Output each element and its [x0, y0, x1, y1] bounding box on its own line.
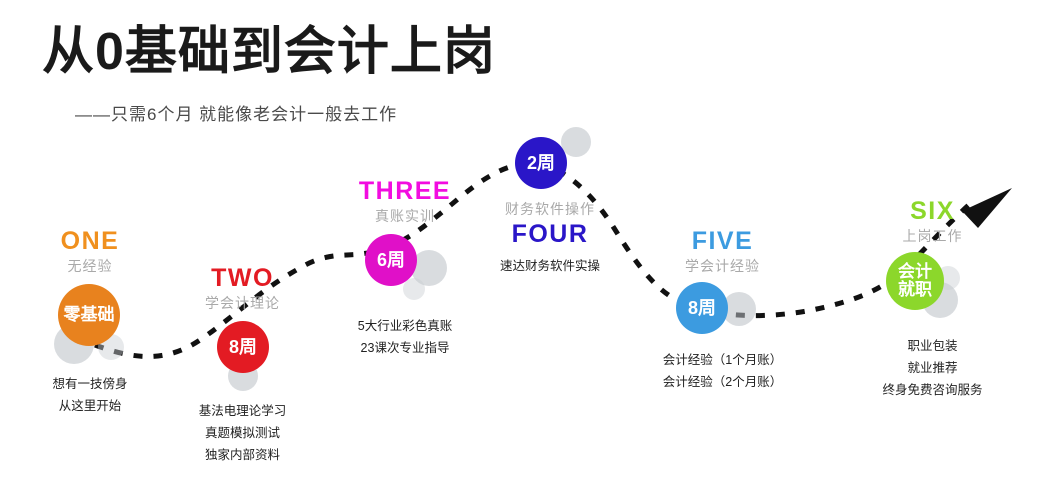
stage-five-circle-group: 8周: [630, 276, 815, 348]
stage-two-note-1: 基法电理论学习: [155, 401, 330, 423]
stage-three-note-1: 5大行业彩色真账: [315, 316, 495, 338]
stage-two-note-2: 真题模拟测试: [155, 423, 330, 445]
stage-six-notes: 职业包装 就业推荐 终身免费咨询服务: [840, 336, 1025, 402]
stage-six-note-2: 就业推荐: [840, 358, 1025, 380]
stage-three-note-2: 23课次专业指导: [315, 338, 495, 360]
stage-five-note-1: 会计经验（1个月账）: [630, 350, 815, 372]
stage-six-sublabel: 上岗工作: [840, 226, 1025, 246]
stage-one-sublabel: 无经验: [6, 256, 174, 276]
infographic-poster: 从0基础到会计上岗 ——只需6个月 就能像老会计一般去工作 ONE 无经验 零基…: [0, 0, 1037, 480]
stage-five-note-2: 会计经验（2个月账）: [630, 372, 815, 394]
stage-six[interactable]: SIX 上岗工作 会计 就职 职业包装 就业推荐 终身免费咨询服务: [840, 198, 1025, 402]
stage-six-bubble-label-1: 会计: [898, 263, 932, 281]
stage-four-circle-group: 2周: [455, 133, 645, 197]
stage-two-note-3: 独家内部资料: [155, 445, 330, 467]
stage-one-note-2: 从这里开始: [6, 396, 174, 418]
stage-five[interactable]: FIVE 学会计经验 8周 会计经验（1个月账） 会计经验（2个月账）: [630, 228, 815, 394]
stage-two-sublabel: 学会计理论: [155, 293, 330, 313]
stage-one-bubble[interactable]: 零基础: [58, 284, 120, 346]
stage-five-heading: FIVE: [630, 228, 815, 254]
stage-three-bubble[interactable]: 6周: [365, 234, 417, 286]
stage-three-notes: 5大行业彩色真账 23课次专业指导: [315, 316, 495, 360]
stage-three-bubble-label: 6周: [377, 251, 405, 270]
stage-four-sublabel: 财务软件操作: [455, 199, 645, 219]
stage-four-bubble[interactable]: 2周: [515, 137, 567, 189]
page-subtitle: ——只需6个月 就能像老会计一般去工作: [75, 100, 397, 125]
stage-one-bubble-label: 零基础: [64, 306, 115, 324]
stage-four-heading: FOUR: [455, 221, 645, 247]
stage-six-circle-group: 会计 就职: [840, 246, 1025, 332]
stage-one-note-1: 想有一技傍身: [6, 374, 174, 396]
stage-four-bubble-label: 2周: [527, 154, 555, 173]
stage-six-heading: SIX: [840, 198, 1025, 224]
stage-six-note-1: 职业包装: [840, 336, 1025, 358]
stage-two-notes: 基法电理论学习 真题模拟测试 独家内部资料: [155, 401, 330, 467]
stage-one-circle-group: 零基础: [6, 276, 174, 368]
stage-four-ghost-circle: [561, 127, 591, 157]
stage-four-notes: 速达财务软件实操: [455, 256, 645, 278]
stage-two-circle-group: 8周: [155, 313, 330, 397]
page-title: 从0基础到会计上岗: [42, 24, 496, 81]
stage-five-bubble[interactable]: 8周: [676, 282, 728, 334]
stage-one[interactable]: ONE 无经验 零基础 想有一技傍身 从这里开始: [6, 228, 174, 418]
stage-one-notes: 想有一技傍身 从这里开始: [6, 374, 174, 418]
stage-four[interactable]: 2周 财务软件操作 FOUR 速达财务软件实操: [455, 133, 645, 278]
stage-six-bubble[interactable]: 会计 就职: [886, 252, 944, 310]
stage-six-note-3: 终身免费咨询服务: [840, 380, 1025, 402]
stage-five-sublabel: 学会计经验: [630, 256, 815, 276]
stage-two-bubble-label: 8周: [229, 338, 257, 357]
stage-two[interactable]: TWO 学会计理论 8周 基法电理论学习 真题模拟测试 独家内部资料: [155, 265, 330, 467]
stage-three-ghost-circle-small: [403, 278, 425, 300]
stage-six-bubble-label-2: 就职: [898, 281, 932, 299]
stage-five-notes: 会计经验（1个月账） 会计经验（2个月账）: [630, 350, 815, 394]
stage-five-bubble-label: 8周: [688, 299, 716, 318]
stage-four-note-1: 速达财务软件实操: [455, 256, 645, 278]
stage-two-heading: TWO: [155, 265, 330, 291]
stage-one-heading: ONE: [6, 228, 174, 254]
stage-two-bubble[interactable]: 8周: [217, 321, 269, 373]
